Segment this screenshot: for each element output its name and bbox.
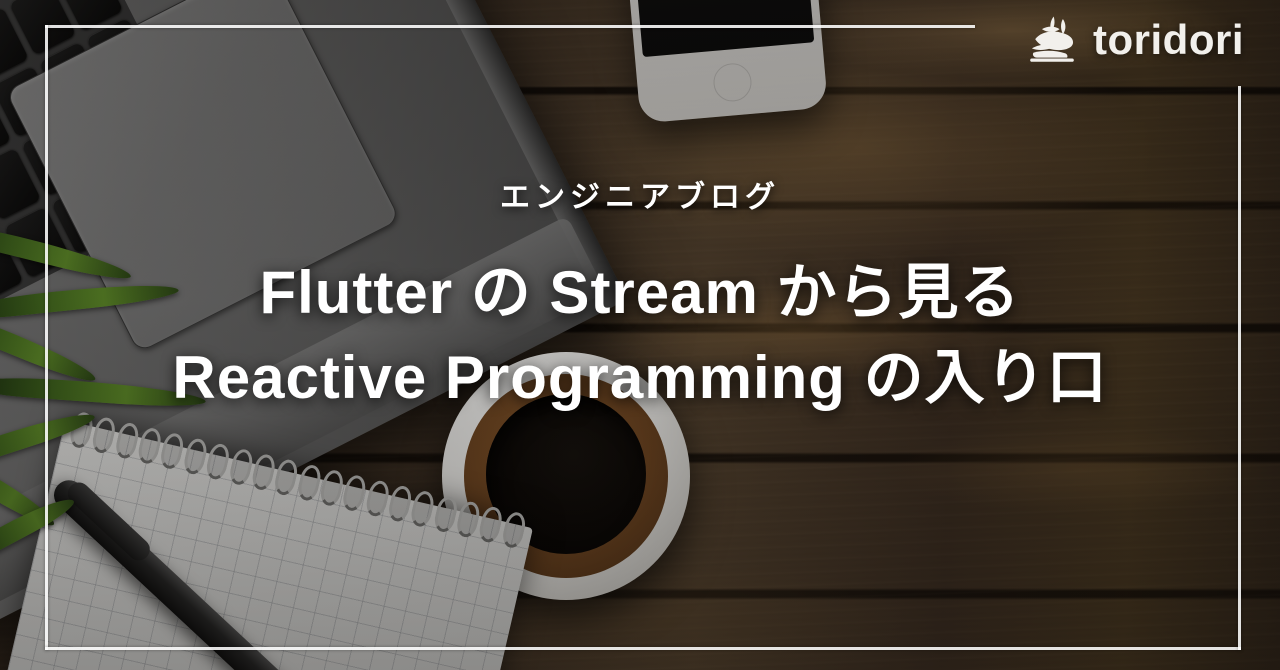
hero-text-block: エンジニアブログ Flutter の Stream から見る Reactive … <box>0 172 1280 420</box>
brand-name: toridori <box>1093 19 1244 61</box>
page-title-line-2: Reactive Programming の入り口 <box>0 335 1280 420</box>
page-title: Flutter の Stream から見る Reactive Programmi… <box>0 250 1280 420</box>
page-title-line-1: Flutter の Stream から見る <box>0 250 1280 335</box>
ogp-card: toridori エンジニアブログ Flutter の Stream から見る … <box>0 0 1280 670</box>
brand-logo[interactable]: toridori <box>1025 14 1244 66</box>
category-label: エンジニアブログ <box>0 172 1280 216</box>
toridori-bird-icon <box>1025 14 1079 66</box>
